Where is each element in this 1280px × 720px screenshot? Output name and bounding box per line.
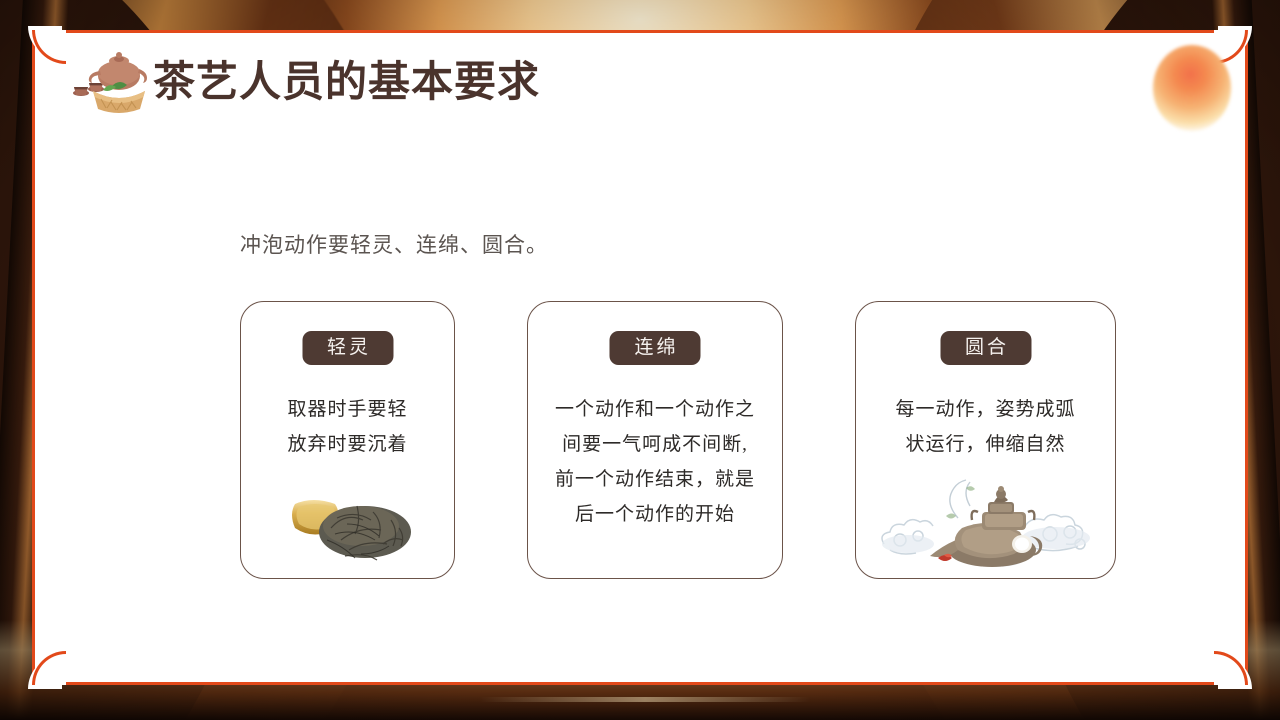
card-line: 一个动作和一个动作之 (536, 392, 774, 427)
card-badge: 轻灵 (302, 331, 393, 365)
card-body-text: 取器时手要轻 放弃时要沉着 (241, 392, 454, 462)
slide-root: 茶艺人员的基本要求 冲泡动作要轻灵、连绵、圆合。 轻灵 取器时手要轻 放弃时要沉… (0, 0, 1280, 720)
content-panel: 茶艺人员的基本要求 冲泡动作要轻灵、连绵、圆合。 轻灵 取器时手要轻 放弃时要沉… (32, 30, 1248, 685)
card-line: 每一动作，姿势成弧 (864, 392, 1107, 427)
panel-corner-bottom-left (32, 651, 66, 685)
background-floor-highlight-secondary (480, 697, 810, 702)
panel-corner-bottom-right (1214, 651, 1248, 685)
card-badge: 连绵 (609, 331, 700, 365)
card-line: 放弃时要沉着 (249, 427, 446, 462)
card-line: 状运行，伸缩自然 (864, 427, 1107, 462)
tea-scoop-with-leaves-image (287, 484, 423, 570)
sun-glow-decoration (1153, 45, 1231, 131)
cards-container: 轻灵 取器时手要轻 放弃时要沉着 (240, 301, 1116, 579)
card-line: 取器时手要轻 (249, 392, 446, 427)
card-line: 间要一气呵成不间断, (536, 427, 774, 462)
card-yuanhe[interactable]: 圆合 每一动作，姿势成弧 状运行，伸缩自然 (855, 301, 1116, 579)
card-body-text: 每一动作，姿势成弧 状运行，伸缩自然 (856, 392, 1115, 462)
teapot-basket-icon (71, 49, 149, 115)
page-title: 茶艺人员的基本要求 (153, 61, 540, 103)
card-qingling[interactable]: 轻灵 取器时手要轻 放弃时要沉着 (240, 301, 455, 579)
panel-corner-top-left (32, 30, 66, 64)
card-badge: 圆合 (940, 331, 1031, 365)
lead-sentence: 冲泡动作要轻灵、连绵、圆合。 (240, 229, 548, 259)
card-lianmian[interactable]: 连绵 一个动作和一个动作之 间要一气呵成不间断, 前一个动作结束，就是 后一个动… (527, 301, 783, 579)
card-line: 前一个动作结束，就是 (536, 462, 774, 497)
teapot-with-clouds-image (874, 472, 1100, 576)
card-line: 后一个动作的开始 (536, 497, 774, 532)
card-body-text: 一个动作和一个动作之 间要一气呵成不间断, 前一个动作结束，就是 后一个动作的开… (528, 392, 782, 532)
page-title-row: 茶艺人员的基本要求 (71, 49, 540, 115)
